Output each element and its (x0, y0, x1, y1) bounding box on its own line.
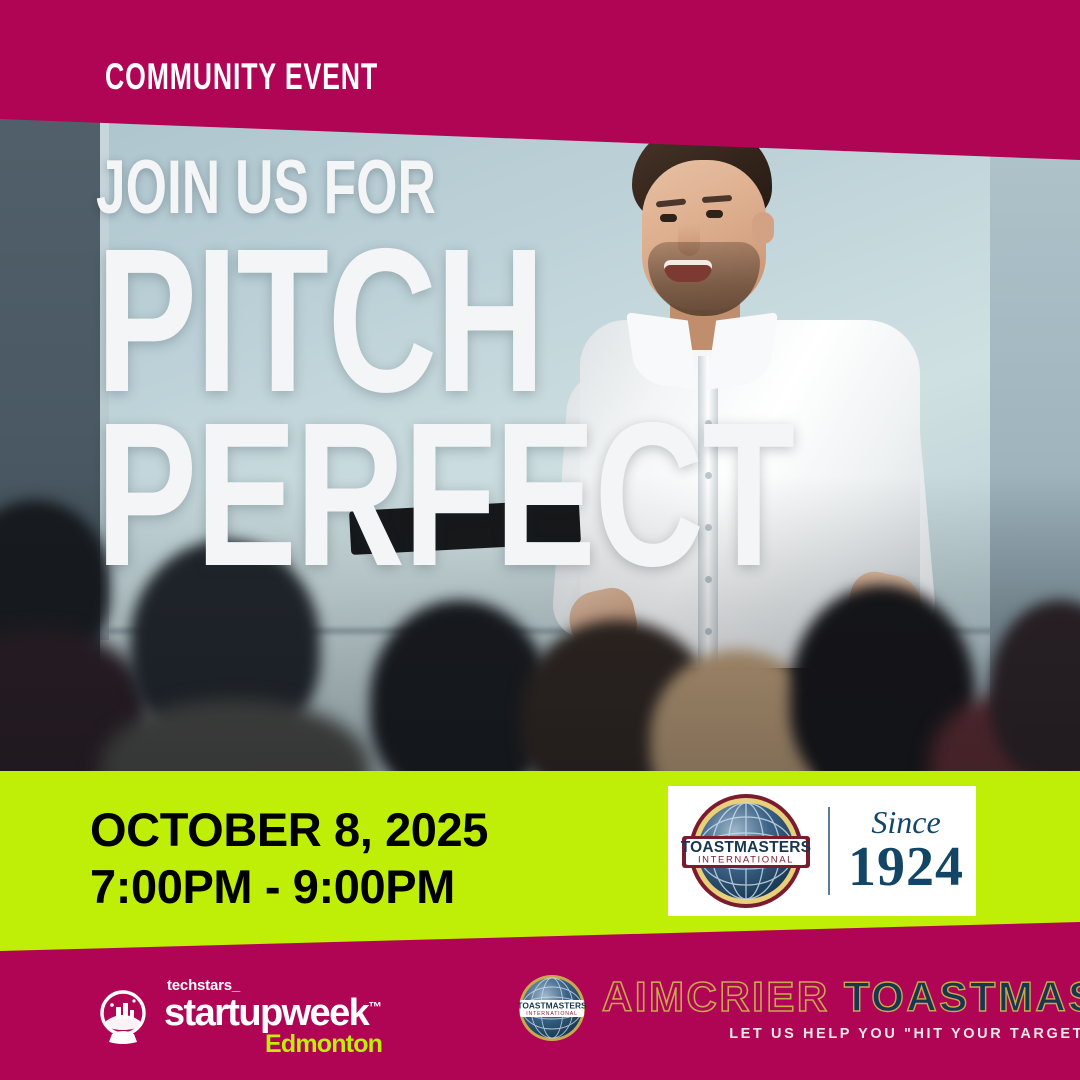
shirt-button (705, 628, 712, 635)
eyebrow-label: COMMUNITY EVENT (105, 58, 378, 95)
event-date: OCTOBER 8, 2025 (90, 801, 488, 858)
event-details: OCTOBER 8, 2025 7:00PM - 9:00PM (90, 801, 488, 916)
startupweek-name-text: startupweek (164, 992, 368, 1034)
since-year: 1924 (836, 838, 976, 897)
toastmasters-logo-card: TOASTMASTERS INTERNATIONAL Since 1924 (668, 786, 976, 916)
startupweek-wordmark: techstars_ startupweek™ Edmonton (164, 978, 382, 1057)
club-name-part1: AIMCRIER (602, 973, 830, 1020)
startupweek-city: Edmonton (164, 1032, 382, 1057)
headline-block: JOIN US FOR PITCH PERFECT (96, 158, 1039, 582)
aimcrier-wordmark: AIMCRIER TOASTMASTERS LET US HELP YOU "H… (602, 974, 1080, 1042)
club-name: AIMCRIER TOASTMASTERS (602, 976, 1080, 1018)
startupweek-name: startupweek™ (164, 995, 382, 1031)
club-name-part2: TOASTMASTERS (844, 973, 1080, 1020)
snowglobe-icon (92, 987, 154, 1049)
toastmasters-globe-icon: TOASTMASTERS INTERNATIONAL (668, 788, 824, 914)
techstars-label: techstars_ (167, 978, 382, 993)
club-tagline: LET US HELP YOU "HIT YOUR TARGET" (602, 1027, 1080, 1042)
event-poster: COMMUNITY EVENT JOIN US FOR PITCH PERFEC… (0, 0, 1080, 1080)
svg-text:TOASTMASTERS: TOASTMASTERS (517, 1001, 587, 1011)
svg-text:TOASTMASTERS: TOASTMASTERS (681, 839, 811, 856)
since-label: Since (836, 806, 976, 838)
aimcrier-club-logo: TOASTMASTERS INTERNATIONAL AIMCRIER TOAS… (516, 972, 1080, 1044)
trademark-symbol: ™ (368, 998, 382, 1014)
svg-text:INTERNATIONAL: INTERNATIONAL (526, 1011, 578, 1017)
since-block: Since 1924 (830, 806, 976, 897)
headline-line-2: PERFECT (96, 409, 794, 581)
svg-text:INTERNATIONAL: INTERNATIONAL (698, 855, 794, 866)
globe-icon: TOASTMASTERS INTERNATIONAL (516, 972, 588, 1044)
startupweek-logo: techstars_ startupweek™ Edmonton (92, 978, 382, 1057)
